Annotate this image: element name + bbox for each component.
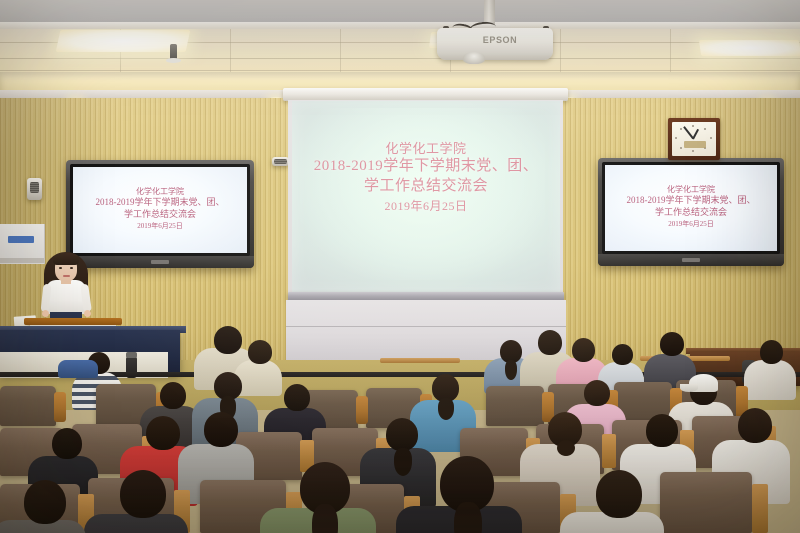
presenter-hand-left xyxy=(42,310,49,317)
display-left-logo xyxy=(151,260,169,264)
person-head xyxy=(612,344,633,365)
presenter-shirt xyxy=(46,280,86,314)
person-head xyxy=(248,340,272,364)
tv-right-line-3: 学工作总结交流会 xyxy=(614,207,768,219)
tv-left-line-4: 2019年6月25日 xyxy=(83,222,237,231)
slide-line-2: 2018-2019学年下学期末党、团、 xyxy=(300,157,552,177)
slide-line-4: 2019年6月25日 xyxy=(300,199,552,215)
display-right-chin xyxy=(598,254,784,266)
person-head xyxy=(738,408,772,443)
thermos-lid xyxy=(126,352,137,358)
ceiling-grid-line xyxy=(230,28,231,74)
lower-wall-panel xyxy=(286,300,566,362)
person-head xyxy=(284,384,310,411)
person-head xyxy=(146,416,180,450)
presenter-bangs xyxy=(53,253,79,265)
person-ponytail xyxy=(505,360,517,380)
presenter-hand-right xyxy=(84,310,91,317)
display-left-panel: 化学化工学院 2018-2019学年下学期末党、团、 学工作总结交流会 2019… xyxy=(73,167,247,253)
projector-lens-icon xyxy=(463,52,485,64)
panel-seam xyxy=(286,326,566,327)
person-head xyxy=(24,480,66,524)
presenter-eye xyxy=(59,267,62,269)
ceiling-soffit-edge xyxy=(0,22,800,29)
display-right-bezel: 化学化工学院 2018-2019学年下学期末党、团、 学工作总结交流会 2019… xyxy=(602,162,780,254)
desk-ledge xyxy=(380,358,460,363)
seat-divider xyxy=(356,396,368,424)
seat-divider xyxy=(54,392,66,422)
person-head xyxy=(204,412,238,447)
seat xyxy=(0,386,56,426)
person-body xyxy=(744,360,796,400)
seat xyxy=(486,386,544,426)
slide-text-block: 化学化工学院 2018-2019学年下学期末党、团、 学工作总结交流会 2019… xyxy=(300,140,552,215)
tv-left-line-2: 2018-2019学年下学期末党、团、 xyxy=(83,197,237,209)
tv-right-line-2: 2018-2019学年下学期末党、团、 xyxy=(614,195,768,207)
ceiling-grid-line xyxy=(560,28,561,74)
person-head xyxy=(760,340,783,364)
person-ponytail xyxy=(454,502,482,533)
person-head xyxy=(646,414,678,447)
display-right-panel: 化学化工学院 2018-2019学年下学期末党、团、 学工作总结交流会 2019… xyxy=(605,165,777,251)
person-head xyxy=(120,470,166,518)
person-head xyxy=(572,338,595,362)
person-hair-bun xyxy=(557,440,575,456)
sprinkler-head-icon xyxy=(166,58,181,63)
display-right-text-block: 化学化工学院 2018-2019学年下学期末党、团、 学工作总结交流会 2019… xyxy=(614,185,768,229)
speaker-grille-icon xyxy=(274,159,287,164)
podium-top xyxy=(24,318,122,325)
ceiling-panel-light xyxy=(699,40,800,56)
person-head xyxy=(52,428,82,459)
seat xyxy=(660,472,752,533)
person-ponytail xyxy=(438,398,454,420)
ceiling-grid-line xyxy=(670,28,671,74)
tv-left-line-3: 学工作总结交流会 xyxy=(83,209,237,221)
tv-right-line-1: 化学化工学院 xyxy=(614,185,768,195)
display-right[interactable]: 化学化工学院 2018-2019学年下学期末党、团、 学工作总结交流会 2019… xyxy=(598,158,784,266)
display-left-bezel: 化学化工学院 2018-2019学年下学期末党、团、 学工作总结交流会 2019… xyxy=(70,164,250,256)
person-head xyxy=(160,382,186,409)
person-head xyxy=(214,326,242,354)
projector-brand-label: EPSON xyxy=(470,34,530,46)
person-head xyxy=(596,470,642,518)
person-head xyxy=(584,380,610,406)
tv-left-line-1: 化学化工学院 xyxy=(83,187,237,197)
person-head xyxy=(660,332,684,356)
lecture-hall-photo: EPSON 化学化工学院 2018-2019学年下学期末党、团、 学工作总结交流… xyxy=(0,0,800,533)
ceiling-grid-line xyxy=(340,28,341,74)
tv-right-line-4: 2019年6月25日 xyxy=(614,220,768,229)
person-ponytail xyxy=(312,504,338,533)
presenter-eye xyxy=(70,267,73,269)
person-ponytail xyxy=(394,448,412,476)
person-head xyxy=(386,418,418,451)
slide-line-3: 学工作总结交流会 xyxy=(300,177,552,197)
seat-armrest xyxy=(602,434,616,468)
seat-armrest xyxy=(752,484,768,533)
slide-line-1: 化学化工学院 xyxy=(300,140,552,157)
speaker-grille-icon xyxy=(30,182,39,193)
display-left-text-block: 化学化工学院 2018-2019学年下学期末党、团、 学工作总结交流会 2019… xyxy=(83,187,237,231)
person-head xyxy=(538,330,562,355)
whiteboard-label xyxy=(8,236,34,243)
presenter-mouth xyxy=(63,275,70,277)
display-right-logo xyxy=(682,258,700,262)
clock-brand-plate xyxy=(684,141,706,148)
backpack xyxy=(58,360,98,378)
cap-brim-icon xyxy=(680,384,698,392)
